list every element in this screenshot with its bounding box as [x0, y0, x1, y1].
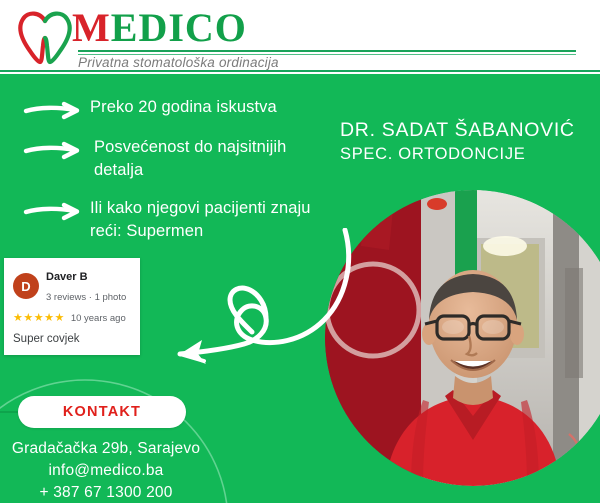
google-review-card[interactable]: D Daver B 3 reviews · 1 photo ★★★★★ 10 y… [4, 258, 140, 355]
brand-wordmark: MEDICO [72, 6, 247, 50]
contact-email[interactable]: info@medico.ba [0, 460, 212, 482]
brand-name: MEDICO [72, 6, 247, 50]
promo-poster: MEDICO Privatna stomatološka ordinacija [0, 0, 600, 503]
review-text: Super covjek [13, 333, 131, 345]
brand-tagline: Privatna stomatološka ordinacija [78, 55, 498, 70]
doctor-name-block: DR. SADAT ŠABANOVIĆ SPEC. ORTODONCIJE [340, 118, 590, 165]
list-item: Preko 20 godina iskustva [22, 96, 322, 121]
kontakt-button[interactable]: KONTAKT [18, 396, 186, 428]
benefit-text: Preko 20 godina iskustva [84, 96, 277, 119]
contact-details: Gradačačka 29b, Sarajevo info@medico.ba … [0, 438, 212, 503]
brand-name-rest: EDICO [111, 5, 247, 50]
star-rating-icon: ★★★★★ [13, 313, 65, 324]
reviewer-meta: 3 reviews · 1 photo [46, 292, 126, 303]
doctor-name: DR. SADAT ŠABANOVIĆ [340, 118, 590, 142]
doctor-photo [325, 190, 600, 486]
list-item: Posvećenost do najsitnijih detalja [22, 136, 322, 182]
brand-rule-top [78, 50, 576, 52]
avatar: D [13, 273, 39, 299]
benefit-text: Ili kako njegovi pacijenti znaju reći: S… [84, 197, 322, 243]
review-rating-row: ★★★★★ 10 years ago [13, 313, 131, 324]
arrow-right-icon [22, 99, 84, 121]
review-header: D Daver B 3 reviews · 1 photo [13, 266, 131, 306]
arrow-right-icon [22, 200, 84, 222]
review-timestamp: 10 years ago [71, 313, 126, 324]
contact-address: Gradačačka 29b, Sarajevo [0, 438, 212, 460]
benefit-text: Posvećenost do najsitnijih detalja [84, 136, 322, 182]
list-item: Ili kako njegovi pacijenti znaju reći: S… [22, 197, 322, 243]
tooth-heart-icon [14, 8, 76, 66]
reviewer-identity: Daver B 3 reviews · 1 photo [46, 266, 126, 306]
arrow-right-icon [22, 139, 84, 161]
brand-header: MEDICO Privatna stomatološka ordinacija [0, 0, 600, 74]
brand-name-initial: M [72, 5, 111, 50]
contact-phone[interactable]: + 387 67 1300 200 [0, 482, 212, 503]
doctor-specialty: SPEC. ORTODONCIJE [340, 143, 590, 165]
reviewer-name: Daver B [46, 271, 88, 283]
benefits-list: Preko 20 godina iskustva Posvećenost do … [22, 96, 322, 258]
header-divider [0, 70, 600, 72]
